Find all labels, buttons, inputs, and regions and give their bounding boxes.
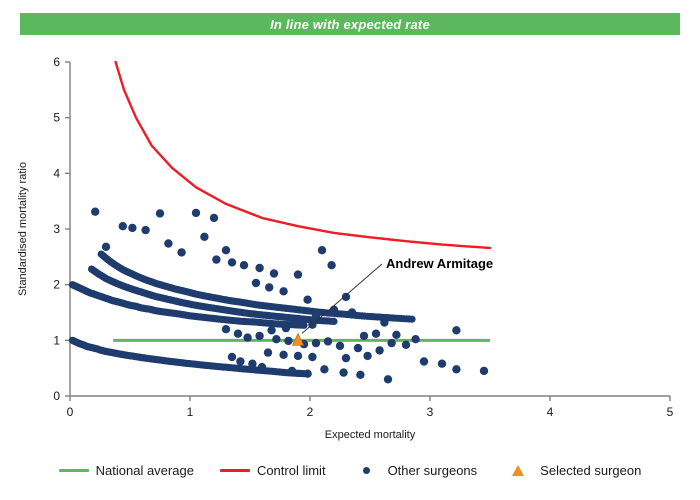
other-surgeon-point[interactable] [339, 368, 347, 376]
legend-label: Other surgeons [388, 463, 478, 478]
y-axis-tick-label: 2 [53, 278, 60, 292]
line-icon [59, 469, 89, 472]
axis-layer: 0123456012345Expected mortalityStandardi… [17, 55, 674, 441]
other-surgeon-point[interactable] [240, 261, 248, 269]
other-surgeon-point[interactable] [420, 357, 428, 365]
other-surgeon-point[interactable] [356, 371, 364, 379]
other-surgeon-point[interactable] [156, 209, 164, 217]
other-surgeon-point[interactable] [402, 341, 410, 349]
other-surgeon-point[interactable] [200, 233, 208, 241]
other-surgeon-point[interactable] [294, 352, 302, 360]
chart-area: 0123456012345Expected mortalityStandardi… [0, 0, 700, 500]
other-surgeon-point[interactable] [480, 367, 488, 375]
other-surgeon-point[interactable] [380, 318, 388, 326]
x-axis-tick-label: 4 [547, 405, 554, 419]
y-axis-tick-label: 6 [53, 55, 60, 69]
other-surgeon-point[interactable] [318, 246, 326, 254]
funnel-band-dot [408, 316, 415, 323]
other-surgeon-point[interactable] [294, 270, 302, 278]
y-axis-tick-label: 0 [53, 389, 60, 403]
other-surgeon-point[interactable] [272, 335, 280, 343]
other-surgeon-point[interactable] [222, 246, 230, 254]
other-surgeon-point[interactable] [212, 255, 220, 263]
other-surgeon-point[interactable] [267, 326, 275, 334]
other-surgeon-point[interactable] [312, 339, 320, 347]
other-surgeon-point[interactable] [102, 243, 110, 251]
other-surgeon-point[interactable] [308, 353, 316, 361]
other-surgeon-point[interactable] [336, 342, 344, 350]
control-limit-curve [116, 62, 490, 248]
y-axis-tick-label: 4 [53, 166, 60, 180]
y-axis-tick-label: 3 [53, 222, 60, 236]
curve-layer [116, 62, 490, 248]
other-surgeon-point[interactable] [210, 214, 218, 222]
other-surgeon-point[interactable] [279, 351, 287, 359]
other-surgeon-point[interactable] [348, 308, 356, 316]
other-surgeon-point[interactable] [288, 367, 296, 375]
other-surgeon-point[interactable] [354, 344, 362, 352]
annotation-label: Andrew Armitage [386, 256, 493, 271]
other-surgeon-point[interactable] [360, 332, 368, 340]
other-surgeon-point[interactable] [91, 208, 99, 216]
other-surgeon-point[interactable] [234, 330, 242, 338]
other-surgeon-point[interactable] [387, 339, 395, 347]
dot-icon [363, 467, 370, 474]
other-surgeon-point[interactable] [255, 264, 263, 272]
legend-item-other-surgeons[interactable]: Other surgeons [352, 463, 478, 478]
y-axis-tick-label: 1 [53, 333, 60, 347]
other-surgeon-point[interactable] [164, 239, 172, 247]
other-surgeon-point[interactable] [372, 330, 380, 338]
legend-label: Control limit [257, 463, 326, 478]
y-axis-tick-label: 5 [53, 111, 60, 125]
other-surgeon-point[interactable] [327, 261, 335, 269]
triangle-icon [512, 465, 524, 476]
other-surgeon-point[interactable] [128, 224, 136, 232]
other-surgeon-point[interactable] [330, 306, 338, 314]
other-surgeon-point[interactable] [324, 337, 332, 345]
x-axis-title: Expected mortality [325, 429, 416, 441]
x-axis-tick-label: 0 [67, 405, 74, 419]
funnel-plot-page: In line with expected rate 0123456012345… [0, 0, 700, 500]
other-surgeon-point[interactable] [236, 357, 244, 365]
other-surgeon-point[interactable] [303, 370, 311, 378]
x-axis-tick-label: 3 [427, 405, 434, 419]
other-surgeon-point[interactable] [363, 352, 371, 360]
other-surgeon-point[interactable] [452, 365, 460, 373]
legend-label: Selected surgeon [540, 463, 641, 478]
other-surgeon-point[interactable] [384, 375, 392, 383]
other-surgeon-point[interactable] [282, 324, 290, 332]
other-surgeon-point[interactable] [411, 335, 419, 343]
y-axis-title: Standardised mortality ratio [17, 162, 29, 296]
x-axis-tick-label: 1 [187, 405, 194, 419]
other-surgeon-point[interactable] [264, 348, 272, 356]
annotation-leader-line [302, 264, 382, 333]
other-surgeon-point[interactable] [291, 318, 299, 326]
funnel-plot-svg: 0123456012345Expected mortalityStandardi… [0, 0, 700, 500]
other-surgeon-point[interactable] [392, 331, 400, 339]
other-surgeon-point[interactable] [270, 269, 278, 277]
other-surgeon-point[interactable] [228, 258, 236, 266]
other-surgeon-point[interactable] [279, 287, 287, 295]
x-axis-tick-label: 5 [667, 405, 674, 419]
other-surgeon-point[interactable] [228, 353, 236, 361]
other-surgeon-point[interactable] [265, 283, 273, 291]
other-surgeon-point[interactable] [303, 296, 311, 304]
other-surgeon-point[interactable] [452, 326, 460, 334]
legend-item-selected-surgeon[interactable]: Selected surgeon [503, 463, 641, 478]
other-surgeon-point[interactable] [243, 333, 251, 341]
other-surgeon-point[interactable] [248, 360, 256, 368]
other-surgeon-point[interactable] [375, 346, 383, 354]
other-surgeon-point[interactable] [258, 363, 266, 371]
other-surgeon-point[interactable] [192, 209, 200, 217]
other-surgeon-point[interactable] [342, 293, 350, 301]
other-surgeon-point[interactable] [141, 226, 149, 234]
x-axis-tick-label: 2 [307, 405, 314, 419]
line-icon [220, 469, 250, 472]
other-surgeon-point[interactable] [255, 332, 263, 340]
funnel-band-dot [330, 318, 337, 325]
other-surgeon-point[interactable] [252, 279, 260, 287]
legend-label: National average [96, 463, 194, 478]
other-surgeon-point[interactable] [222, 325, 230, 333]
other-surgeon-point[interactable] [320, 365, 328, 373]
legend-item-control-limit[interactable]: Control limit [220, 463, 326, 478]
other-surgeon-point[interactable] [119, 222, 127, 230]
other-surgeon-point[interactable] [177, 248, 185, 256]
other-surgeon-point[interactable] [342, 354, 350, 362]
legend-item-national-average[interactable]: National average [59, 463, 194, 478]
other-surgeon-point[interactable] [284, 337, 292, 345]
other-surgeon-point[interactable] [438, 360, 446, 368]
chart-legend: National averageControl limitOther surge… [0, 455, 700, 485]
